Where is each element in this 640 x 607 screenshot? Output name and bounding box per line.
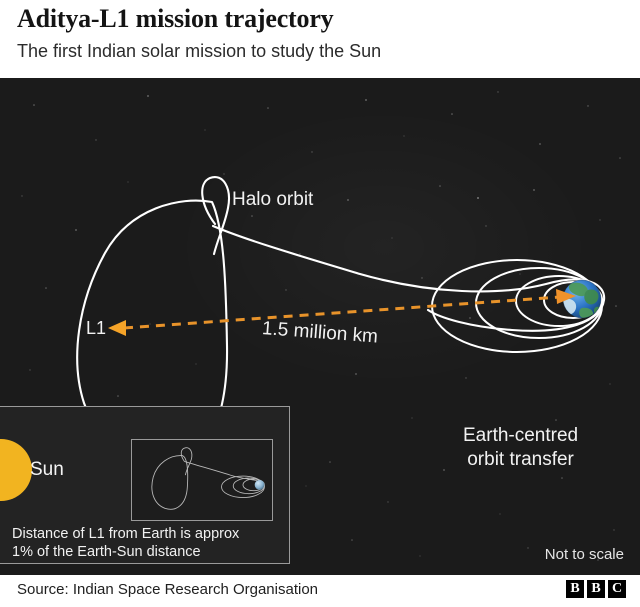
halo-orbit-loop <box>202 177 229 254</box>
mini-earth-globe <box>255 480 265 490</box>
sun-icon <box>0 439 32 501</box>
source-text: Source: Indian Space Research Organisati… <box>17 581 318 598</box>
scale-inset-panel: Sun <box>0 406 290 564</box>
inset-caption: Distance of L1 from Earth is approx 1% o… <box>12 525 239 561</box>
bbc-logo-letter-3: C <box>608 580 626 598</box>
bbc-logo: B B C <box>566 580 626 598</box>
transfer-trajectory <box>213 226 604 331</box>
space-diagram-panel: Halo orbit L1 1.5 million km Earth-centr… <box>0 78 640 575</box>
arrowhead-left <box>108 320 126 336</box>
inset-caption-line2: 1% of the Earth-Sun distance <box>12 543 239 561</box>
mini-halo-oval <box>152 456 188 510</box>
bbc-logo-letter-1: B <box>566 580 584 598</box>
mini-diagram-box <box>131 439 273 521</box>
page-title: Aditya-L1 mission trajectory <box>17 4 333 34</box>
header: Aditya-L1 mission trajectory The first I… <box>0 0 640 78</box>
footer: Source: Indian Space Research Organisati… <box>0 575 640 607</box>
sun-label: Sun <box>30 459 64 481</box>
mini-trajectory-illustration <box>132 440 272 520</box>
inset-caption-line1: Distance of L1 from Earth is approx <box>12 525 239 543</box>
infographic-root: Aditya-L1 mission trajectory The first I… <box>0 0 640 607</box>
page-subtitle: The first Indian solar mission to study … <box>17 41 381 62</box>
bbc-logo-letter-2: B <box>587 580 605 598</box>
